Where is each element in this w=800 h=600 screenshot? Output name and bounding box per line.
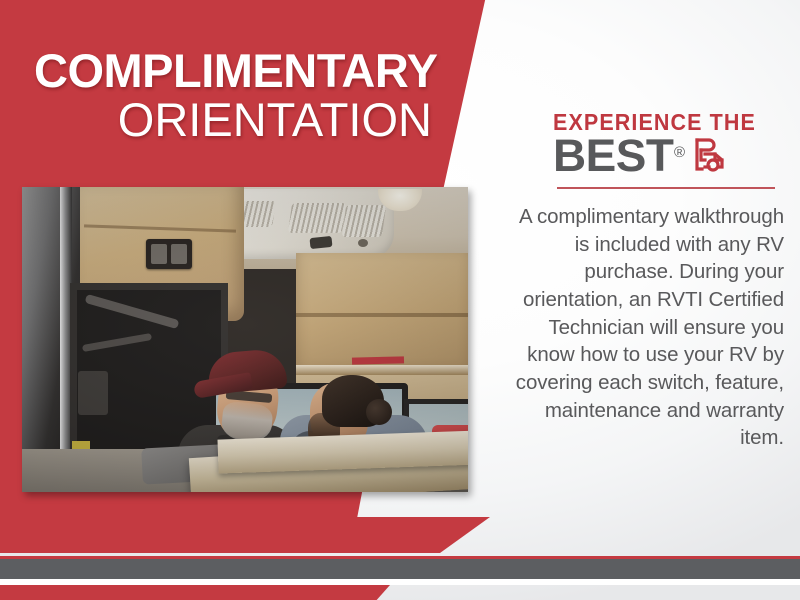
bottom-red-band-secondary xyxy=(0,585,390,600)
rv-motorhome-icon xyxy=(692,136,726,172)
photo-content xyxy=(22,187,468,492)
ac-vent-icon xyxy=(288,203,346,233)
cabinet-edge-right xyxy=(296,365,468,375)
ac-knob-icon xyxy=(309,236,332,249)
bottom-red-band xyxy=(0,517,490,553)
cabinet-seam-right xyxy=(296,313,468,317)
ac-light-icon xyxy=(358,239,368,247)
rv-switch-panel-icon xyxy=(146,239,192,269)
bottom-white-gap xyxy=(0,579,800,585)
logo-main-row: BEST ® xyxy=(553,135,785,176)
logo-wordmark: BEST xyxy=(553,135,673,176)
title-line-2: ORIENTATION xyxy=(28,96,432,144)
orientation-photo xyxy=(22,187,468,492)
customer-hair-bun xyxy=(366,399,392,425)
registered-trademark-icon: ® xyxy=(674,145,685,160)
tv-mount-bracket xyxy=(78,371,108,415)
cabinet-red-accent xyxy=(352,356,404,364)
page-title: COMPLIMENTARY ORIENTATION xyxy=(28,48,432,144)
logo-divider xyxy=(557,187,775,189)
ac-vent-icon xyxy=(342,205,386,237)
promo-slide: COMPLIMENTARY ORIENTATION xyxy=(0,0,800,600)
body-paragraph: A complimentary walkthrough is included … xyxy=(512,203,784,452)
experience-the-best-logo: EXPERIENCE THE BEST ® xyxy=(553,112,785,176)
bottom-grey-bar xyxy=(0,559,800,579)
title-line-1: COMPLIMENTARY xyxy=(34,48,432,94)
